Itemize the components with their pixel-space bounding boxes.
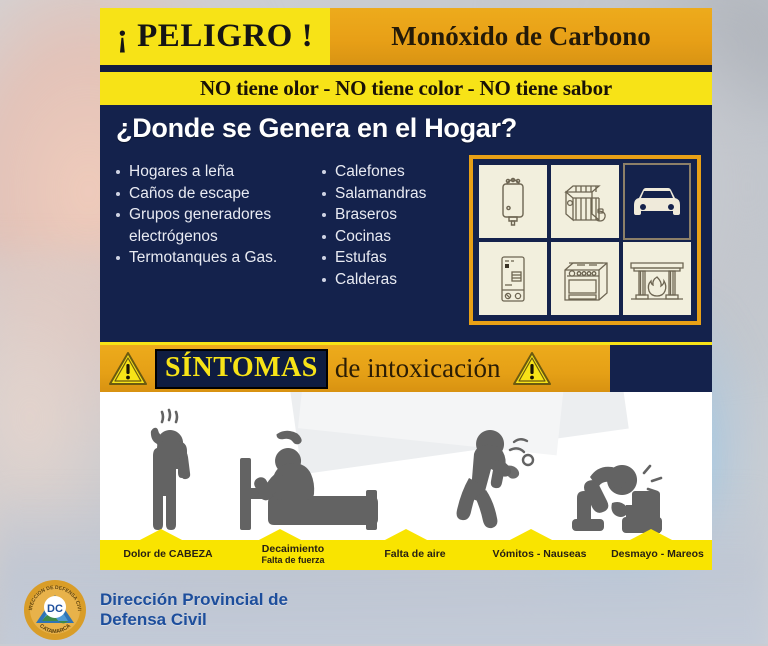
symptoms-banner: SÍNTOMAS de intoxicación bbox=[100, 345, 610, 392]
car-icon bbox=[628, 183, 686, 221]
list-item: Caños de escape bbox=[114, 183, 314, 205]
poster: ¡ PELIGRO ! Monóxido de Carbono NO tiene… bbox=[100, 8, 712, 578]
symptom-label-sub: Falta de fuerza bbox=[238, 555, 348, 567]
danger-badge: ¡ PELIGRO ! bbox=[100, 8, 330, 65]
symptom-label-main: Vómitos - Nauseas bbox=[472, 549, 607, 561]
appliance-cell-stove bbox=[551, 242, 619, 315]
org-name-line2: Defensa Civil bbox=[100, 610, 288, 630]
symptom-label-1: Decaimiento Falta de fuerza bbox=[238, 544, 348, 567]
stove-icon bbox=[557, 254, 613, 304]
sources-column-right: Calefones Salamandras Braseros Cocinas E… bbox=[320, 161, 470, 290]
radiator-icon bbox=[558, 178, 612, 226]
appliance-cell-car bbox=[623, 165, 691, 238]
person-headache-icon bbox=[124, 408, 220, 538]
warning-triangle-icon bbox=[512, 351, 552, 387]
list-item: Cocinas bbox=[320, 226, 470, 248]
symptom-label-2: Falta de aire bbox=[355, 549, 475, 561]
boiler-icon bbox=[495, 252, 531, 306]
list-item: Braseros bbox=[320, 204, 470, 226]
warning-triangle-icon bbox=[108, 351, 148, 387]
fireplace-icon bbox=[628, 255, 686, 303]
symptom-label-4: Desmayo - Mareos bbox=[590, 549, 725, 561]
symptom-label-main: Falta de aire bbox=[355, 549, 475, 561]
section-title: ¿Donde se Genera en el Hogar? bbox=[116, 113, 517, 144]
footer: DC DIRECCION DE DEFENSA CIVIL CATAMARCA … bbox=[22, 578, 442, 642]
properties-label: NO tiene olor - NO tiene color - NO tien… bbox=[200, 76, 612, 101]
list-item: Calefones bbox=[320, 161, 470, 183]
list-item: Calderas bbox=[320, 269, 470, 291]
org-name: Dirección Provincial de Defensa Civil bbox=[100, 590, 288, 630]
symptom-label-main: Dolor de CABEZA bbox=[108, 549, 228, 561]
symptom-label-main: Desmayo - Mareos bbox=[590, 549, 725, 561]
header-divider bbox=[100, 65, 712, 72]
list-item-continuation: electrógenos bbox=[114, 226, 314, 248]
sources-section: ¿Donde se Genera en el Hogar? Hogares a … bbox=[100, 105, 712, 345]
water-heater-icon bbox=[495, 175, 531, 229]
defensa-civil-emblem: DC DIRECCION DE DEFENSA CIVIL CATAMARCA bbox=[22, 579, 88, 641]
symptom-pictograms bbox=[100, 392, 712, 540]
org-name-line1: Dirección Provincial de bbox=[100, 590, 288, 610]
symptom-label-0: Dolor de CABEZA bbox=[108, 549, 228, 561]
sources-column-left: Hogares a leña Caños de escape Grupos ge… bbox=[114, 161, 314, 290]
appliance-cell-radiator bbox=[551, 165, 619, 238]
properties-strip: NO tiene olor - NO tiene color - NO tien… bbox=[100, 72, 712, 105]
symptoms-rest-label: de intoxicación bbox=[335, 353, 501, 384]
symptom-label-main: Decaimiento bbox=[238, 544, 348, 556]
symptoms-banner-filler bbox=[610, 345, 712, 392]
list-item: Grupos generadores bbox=[114, 204, 314, 226]
sources-columns: Hogares a leña Caños de escape Grupos ge… bbox=[114, 161, 470, 290]
person-breathless-icon bbox=[440, 410, 544, 538]
person-vomiting-icon bbox=[560, 431, 688, 537]
list-item: Termotanques a Gas. bbox=[114, 247, 314, 269]
subject-banner: Monóxido de Carbono bbox=[330, 8, 712, 65]
person-in-bed-icon bbox=[230, 424, 390, 536]
appliance-cell-fireplace bbox=[623, 242, 691, 315]
list-item: Estufas bbox=[320, 247, 470, 269]
poster-header: ¡ PELIGRO ! Monóxido de Carbono bbox=[100, 8, 712, 65]
danger-label: ¡ PELIGRO ! bbox=[117, 18, 313, 55]
list-item: Hogares a leña bbox=[114, 161, 314, 183]
subject-label: Monóxido de Carbono bbox=[391, 21, 651, 52]
person-dizzy-icon bbox=[700, 406, 712, 538]
appliance-icon-grid bbox=[469, 155, 701, 325]
svg-text:DC: DC bbox=[47, 603, 63, 615]
symptoms-highlight: SÍNTOMAS bbox=[155, 349, 328, 389]
list-item: Salamandras bbox=[320, 183, 470, 205]
symptom-label-3: Vómitos - Nauseas bbox=[472, 549, 607, 561]
appliance-cell-water-heater bbox=[479, 165, 547, 238]
symptom-label-band: Dolor de CABEZA Decaimiento Falta de fue… bbox=[100, 540, 712, 570]
appliance-cell-boiler bbox=[479, 242, 547, 315]
symptoms-highlight-label: SÍNTOMAS bbox=[165, 352, 318, 383]
